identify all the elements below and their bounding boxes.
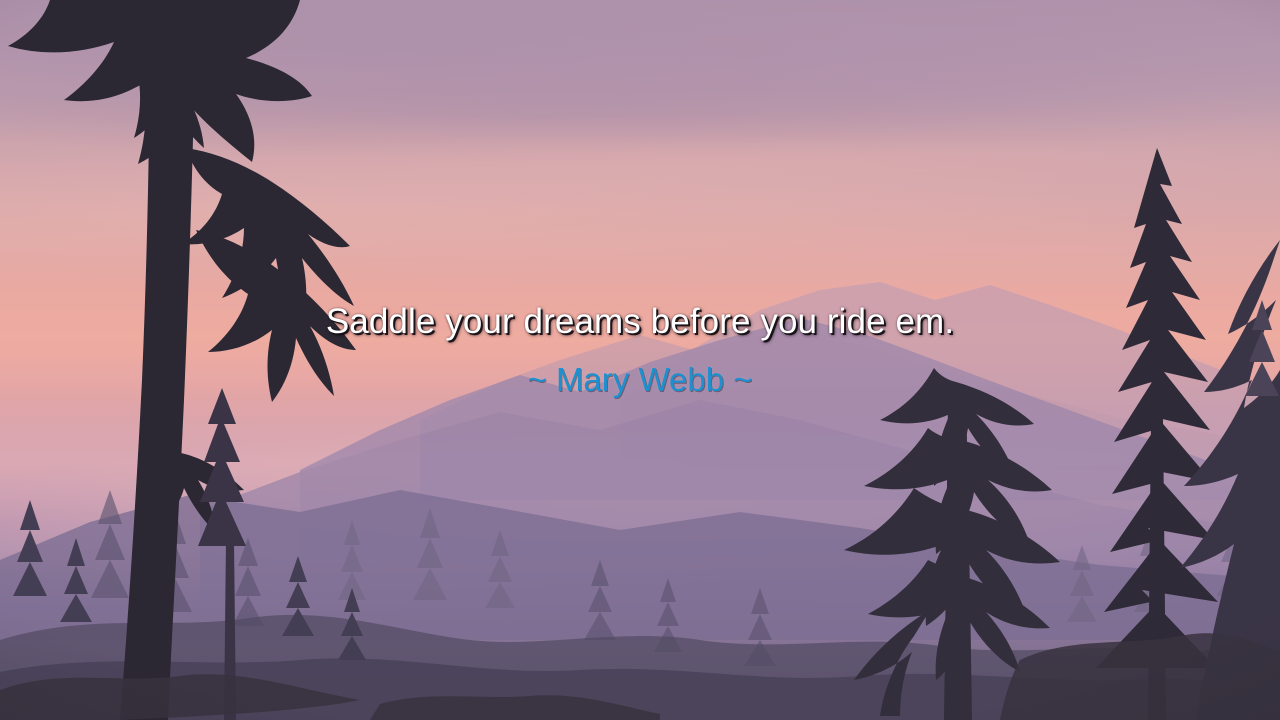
left-secondary-conifer — [198, 388, 246, 720]
quote-author: ~ Mary Webb ~ — [0, 360, 1280, 400]
quote-text: Saddle your dreams before you ride em. — [0, 300, 1280, 344]
bottom-foreground-canopy — [0, 633, 1280, 720]
quote-overlay: Saddle your dreams before you ride em. ~… — [0, 300, 1280, 400]
left-small-conifers — [13, 500, 366, 660]
quote-wallpaper: Saddle your dreams before you ride em. ~… — [0, 0, 1280, 720]
